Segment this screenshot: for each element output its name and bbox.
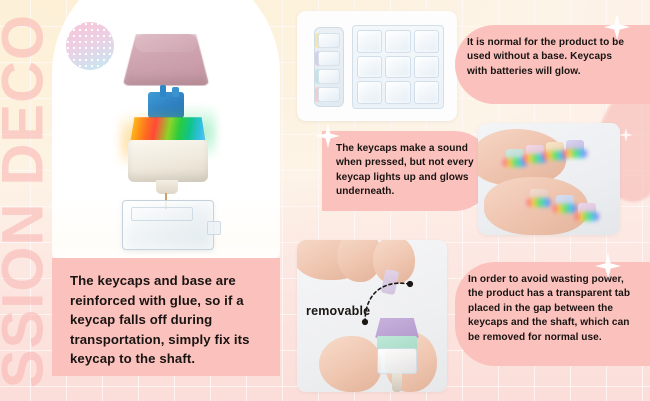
keycap-cell xyxy=(414,56,439,79)
note-middle-text: The keycaps make a sound when pressed, b… xyxy=(336,142,482,200)
keycap-cell xyxy=(357,30,382,53)
keycap-cell xyxy=(385,30,410,53)
keycap-cell xyxy=(414,81,439,104)
glowing-keycap xyxy=(506,149,524,162)
keycap-cell xyxy=(357,56,382,79)
glowing-keycap xyxy=(530,189,548,202)
keycap-top-face xyxy=(135,34,197,52)
keycap-cell xyxy=(385,81,410,104)
glowing-keycap xyxy=(546,142,564,155)
infographic-canvas: SSION DECO The keycaps and base are rein… xyxy=(0,0,650,401)
finger-shape xyxy=(319,336,381,392)
keychain-ring xyxy=(392,373,402,392)
keycap-strip xyxy=(314,27,344,107)
left-note-text: The keycaps and base are reinforced with… xyxy=(70,271,266,369)
removable-arrow-icon xyxy=(357,270,429,332)
keycap-cell xyxy=(357,81,382,104)
glowing-keycap xyxy=(578,203,596,216)
note-middle-panel: The keycaps make a sound when pressed, b… xyxy=(322,131,494,211)
photo-keycap-tray xyxy=(297,11,457,121)
keycap-cell xyxy=(318,87,340,102)
keycap-cell xyxy=(318,69,340,84)
photo-glowing-keycaps-on-hand xyxy=(478,123,620,235)
note-bottom-right-text: In order to avoid wasting power, the pro… xyxy=(468,273,634,345)
keycap-cell xyxy=(318,33,340,48)
clear-base-part xyxy=(122,200,214,250)
keycap-cell xyxy=(385,56,410,79)
photo-removable-tab: removable xyxy=(297,240,447,392)
glowing-keycap xyxy=(526,145,544,158)
switch-housing-part xyxy=(128,140,208,182)
glowing-keycap xyxy=(566,140,584,153)
exploded-switch-illustration xyxy=(98,22,234,250)
vertical-watermark: SSION DECO xyxy=(0,0,46,401)
watermark-text: SSION DECO xyxy=(0,13,46,387)
note-bottom-right-panel: In order to avoid wasting power, the pro… xyxy=(455,262,650,366)
glowing-keycap xyxy=(556,195,574,208)
clear-base xyxy=(377,348,417,374)
switch-pin xyxy=(156,180,178,194)
removable-label: removable xyxy=(306,304,370,318)
keycap-cell xyxy=(318,51,340,66)
note-top-right-text: It is normal for the product to be used … xyxy=(467,36,630,79)
left-note-panel: The keycaps and base are reinforced with… xyxy=(52,258,280,376)
keycap-cell xyxy=(414,30,439,53)
keycap-blister-tray xyxy=(352,25,444,109)
note-top-right-panel: It is normal for the product to be used … xyxy=(455,25,650,104)
